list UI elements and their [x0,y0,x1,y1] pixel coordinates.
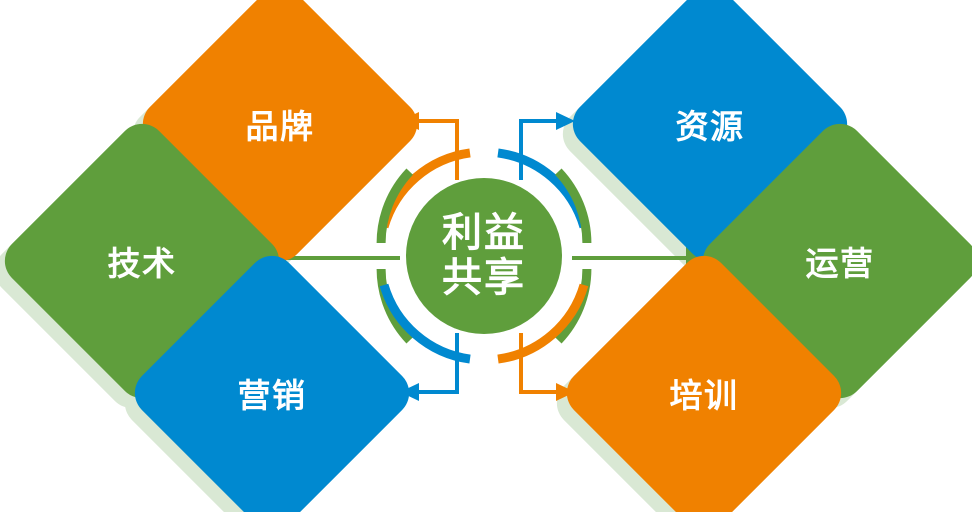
node-label-technology: 技术 [108,237,177,285]
hub-label-line1: 利益 [442,211,526,256]
diagram-canvas: 利益 共享 品牌 技术 营销 资源 运营 培训 [0,0,972,512]
node-label-operations: 运营 [806,237,875,285]
node-label-marketing: 营销 [238,369,307,417]
hub-label-line2: 共享 [442,256,526,301]
node-label-brand: 品牌 [246,100,315,148]
node-label-training: 培训 [670,369,739,417]
hub-label: 利益 共享 [442,211,526,301]
node-label-resources: 资源 [676,100,745,148]
